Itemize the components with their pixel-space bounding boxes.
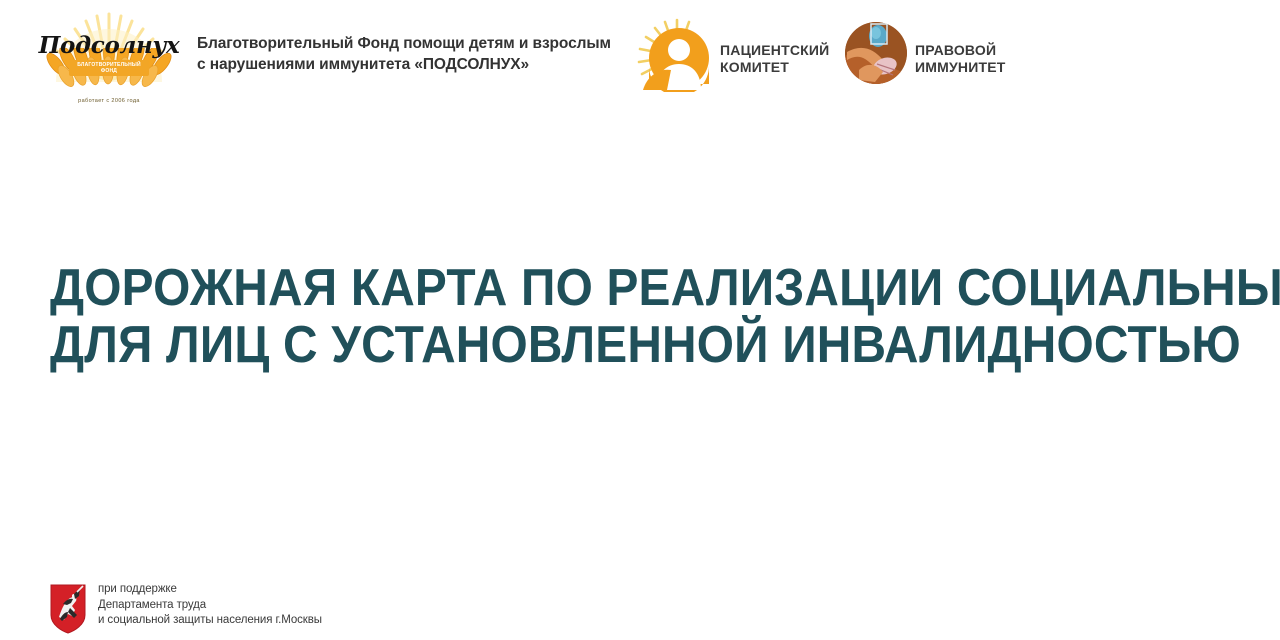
patient-committee-text: ПАЦИЕНТСКИЙ КОМИТЕТ <box>720 42 829 76</box>
patient-committee-line2: КОМИТЕТ <box>720 59 829 76</box>
patient-committee-sunburst-icon <box>637 18 715 92</box>
sunflower-wordmark: Подсолнух <box>34 32 184 59</box>
footer-line2: Департамента труда <box>98 598 322 614</box>
legal-immunity-figures-icon <box>845 22 907 84</box>
foundation-name: Благотворительный Фонд помощи детям и вз… <box>197 33 627 75</box>
sunflower-arc-text: работает с 2006 года <box>34 98 184 104</box>
legal-immunity-line2: ИММУНИТЕТ <box>915 59 1006 76</box>
legal-immunity-circle-icon <box>845 22 907 84</box>
slide-footer: при поддержке Департамента труда и социа… <box>50 582 450 638</box>
foundation-name-line2: с нарушениями иммунитета «ПОДСОЛНУХ» <box>197 54 627 75</box>
patient-committee-line1: ПАЦИЕНТСКИЙ <box>720 42 829 59</box>
moscow-coat-of-arms-icon <box>50 584 86 634</box>
slide-header: Подсолнух БЛАГОТВОРИТЕЛЬНЫЙ ФОНД работае… <box>0 0 1280 120</box>
slide-title-line2: ДЛЯ ЛИЦ С УСТАНОВЛЕННОЙ ИНВАЛИДНОСТЬЮ <box>50 317 1145 374</box>
legal-immunity-text: ПРАВОВОЙ ИММУНИТЕТ <box>915 42 1006 76</box>
footer-line3: и социальной защиты населения г.Москвы <box>98 613 322 629</box>
legal-immunity-logo: ПРАВОВОЙ ИММУНИТЕТ <box>845 16 1045 96</box>
legal-immunity-line1: ПРАВОВОЙ <box>915 42 1006 59</box>
footer-line1: при поддержке <box>98 582 322 598</box>
slide-title-line1: ДОРОЖНАЯ КАРТА ПО РЕАЛИЗАЦИИ СОЦИАЛЬНЫХ … <box>50 260 1145 317</box>
footer-support-text: при поддержке Департамента труда и социа… <box>98 582 322 629</box>
foundation-name-line1: Благотворительный Фонд помощи детям и вз… <box>197 33 627 54</box>
sunflower-banner-line2: ФОНД <box>101 68 117 74</box>
slide-title: ДОРОЖНАЯ КАРТА ПО РЕАЛИЗАЦИИ СОЦИАЛЬНЫХ … <box>50 260 1240 374</box>
sunflower-banner: БЛАГОТВОРИТЕЛЬНЫЙ ФОНД <box>69 60 149 76</box>
sunflower-foundation-logo: Подсолнух БЛАГОТВОРИТЕЛЬНЫЙ ФОНД работае… <box>34 8 184 114</box>
patient-committee-logo: ПАЦИЕНТСКИЙ КОМИТЕТ <box>637 16 837 96</box>
